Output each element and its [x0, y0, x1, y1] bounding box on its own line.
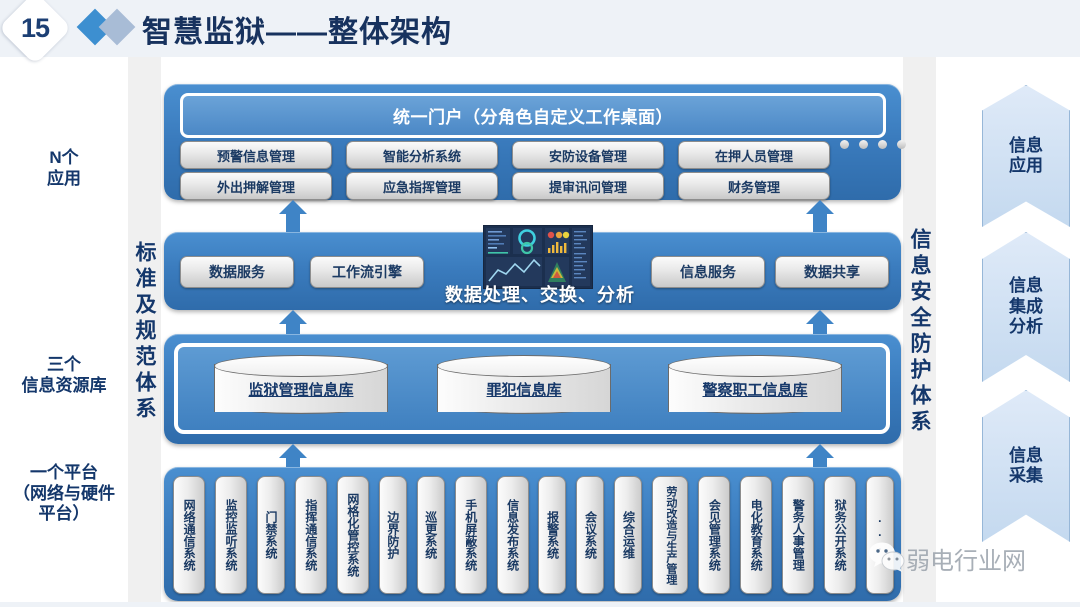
- platform-system-box[interactable]: 监控监听系统: [215, 476, 247, 594]
- platform-system-label: 门禁系统: [265, 511, 277, 559]
- platform-system-label: 综合运维: [622, 511, 634, 559]
- upward-flow-arrow-icon: [279, 200, 307, 232]
- slide-canvas: 15 智慧监狱——整体架构 N个 应用 三个 信息资源库 一个平台 （网络与硬件…: [0, 0, 1080, 607]
- application-button[interactable]: 应急指挥管理: [346, 172, 498, 200]
- platform-system-box[interactable]: 电化教育系统: [740, 476, 772, 594]
- platform-system-label: 网络通信系统: [183, 499, 195, 571]
- platform-system-box[interactable]: 报警系统: [538, 476, 566, 594]
- slide-number: 15: [9, 2, 61, 54]
- upward-flow-arrow-icon: [279, 444, 307, 467]
- platform-system-box[interactable]: 指挥通信系统: [295, 476, 327, 594]
- platform-system-box[interactable]: 信息发布系统: [497, 476, 529, 594]
- page-title: 智慧监狱——整体架构: [142, 7, 452, 51]
- platform-system-box[interactable]: 巡更系统: [417, 476, 445, 594]
- platform-system-box[interactable]: 门禁系统: [257, 476, 285, 594]
- data-processing-caption: 数据处理、交换、分析: [425, 281, 655, 307]
- chevron-1-line2: 应用: [1009, 156, 1043, 176]
- chevron-information-integration: 信息 集成 分析: [982, 232, 1070, 382]
- platform-system-label: 边界防护: [387, 511, 399, 559]
- chevron-2-line3: 分析: [1009, 317, 1043, 337]
- upward-flow-arrow-icon: [806, 444, 834, 467]
- footer-divider: [0, 602, 1080, 607]
- application-button[interactable]: 预警信息管理: [180, 141, 332, 169]
- analytics-dashboard-image: [483, 225, 593, 289]
- information-resource-layer-panel: 监狱管理信息库罪犯信息库警察职工信息库: [164, 334, 901, 444]
- standards-system-strip: 标准及规范体系: [128, 57, 161, 607]
- platform-system-box[interactable]: 会议系统: [576, 476, 604, 594]
- platform-system-label: 会议系统: [584, 511, 596, 559]
- platform-system-label: 狱务公开系统: [834, 499, 846, 571]
- chevron-2-line1: 信息: [1009, 276, 1043, 296]
- unified-portal-banner: 统一门户（分角色自定义工作桌面）: [180, 93, 886, 138]
- database-cylinder: 监狱管理信息库: [214, 355, 388, 421]
- platform-system-label: 信息发布系统: [506, 499, 518, 571]
- platform-system-label: 网格化管控系统: [347, 493, 359, 577]
- slide-header: 15 智慧监狱——整体架构: [0, 0, 1080, 57]
- database-label: 警察职工信息库: [668, 379, 842, 400]
- security-system-label: 信息安全防护体系: [909, 228, 930, 436]
- left-label-resources-line1: 三个: [0, 355, 128, 376]
- application-layer-panel: 统一门户（分角色自定义工作桌面） 预警信息管理智能分析系统安防设备管理在押人员管…: [164, 84, 901, 200]
- platform-system-box[interactable]: 警务人事管理: [782, 476, 814, 594]
- database-inner-frame: 监狱管理信息库罪犯信息库警察职工信息库: [174, 343, 890, 434]
- platform-system-label: 会见管理系统: [708, 499, 720, 571]
- database-label: 罪犯信息库: [437, 379, 611, 400]
- more-applications-dots-icon: [840, 140, 906, 150]
- application-button[interactable]: 财务管理: [678, 172, 830, 200]
- left-label-resources-line2: 信息资源库: [0, 376, 128, 397]
- chevron-information-application: 信息 应用: [982, 85, 1070, 227]
- left-label-applications-line2: 应用: [0, 169, 128, 190]
- platform-system-label: 劳动改造与生产管理: [665, 486, 676, 585]
- standards-system-label: 标准及规范体系: [134, 241, 155, 423]
- chevron-information-collection: 信息 采集: [982, 390, 1070, 542]
- upward-flow-arrow-icon: [806, 200, 834, 232]
- left-label-resources: 三个 信息资源库: [0, 355, 128, 396]
- chevron-3-line2: 采集: [1009, 466, 1043, 486]
- database-cylinder: 罪犯信息库: [437, 355, 611, 421]
- platform-system-label: 电化教育系统: [750, 499, 762, 571]
- data-service-button[interactable]: 数据共享: [775, 256, 889, 288]
- platform-system-label: 手机屏蔽系统: [464, 499, 476, 571]
- database-label: 监狱管理信息库: [214, 379, 388, 400]
- platform-system-box[interactable]: 会见管理系统: [698, 476, 730, 594]
- data-service-button[interactable]: 信息服务: [651, 256, 765, 288]
- left-label-applications: N个 应用: [0, 148, 128, 189]
- application-button[interactable]: 安防设备管理: [512, 141, 664, 169]
- platform-layer-panel: 网络通信系统监控监听系统门禁系统指挥通信系统网格化管控系统边界防护巡更系统手机屏…: [164, 467, 901, 601]
- data-service-button[interactable]: 工作流引擎: [310, 256, 424, 288]
- database-cylinder: 警察职工信息库: [668, 355, 842, 421]
- left-label-platform-line2: （网络与硬件: [0, 484, 128, 505]
- logo-diamond-secondary-icon: [99, 9, 136, 46]
- chevron-2-line2: 集成: [1009, 297, 1043, 317]
- left-label-platform-line1: 一个平台: [0, 463, 128, 484]
- application-button[interactable]: 智能分析系统: [346, 141, 498, 169]
- platform-system-label: 监控监听系统: [225, 499, 237, 571]
- platform-system-box[interactable]: 劳动改造与生产管理: [652, 476, 688, 594]
- chevron-1-line1: 信息: [1009, 136, 1043, 156]
- left-label-applications-line1: N个: [0, 148, 128, 169]
- platform-system-box[interactable]: ···: [866, 476, 894, 594]
- platform-system-box[interactable]: 网络通信系统: [173, 476, 205, 594]
- platform-system-box[interactable]: 综合运维: [614, 476, 642, 594]
- platform-system-box[interactable]: 网格化管控系统: [337, 476, 369, 594]
- upward-flow-arrow-icon: [806, 310, 834, 334]
- upward-flow-arrow-icon: [279, 310, 307, 334]
- platform-system-box[interactable]: 边界防护: [379, 476, 407, 594]
- left-label-platform-line3: 平台）: [0, 504, 128, 525]
- data-service-button[interactable]: 数据服务: [180, 256, 294, 288]
- platform-system-label: 警务人事管理: [792, 499, 804, 571]
- platform-system-box[interactable]: 手机屏蔽系统: [455, 476, 487, 594]
- platform-system-label: 指挥通信系统: [305, 499, 317, 571]
- wechat-icon: [868, 540, 906, 572]
- application-button[interactable]: 在押人员管理: [678, 141, 830, 169]
- watermark-text: 弱电行业网: [906, 541, 1026, 576]
- application-button[interactable]: 提审讯问管理: [512, 172, 664, 200]
- application-button[interactable]: 外出押解管理: [180, 172, 332, 200]
- security-system-strip: 信息安全防护体系: [903, 57, 936, 607]
- left-label-platform: 一个平台 （网络与硬件 平台）: [0, 463, 128, 525]
- chevron-3-line1: 信息: [1009, 446, 1043, 466]
- platform-system-label: 报警系统: [546, 511, 558, 559]
- platform-system-box[interactable]: 狱务公开系统: [824, 476, 856, 594]
- platform-system-label: 巡更系统: [425, 511, 437, 559]
